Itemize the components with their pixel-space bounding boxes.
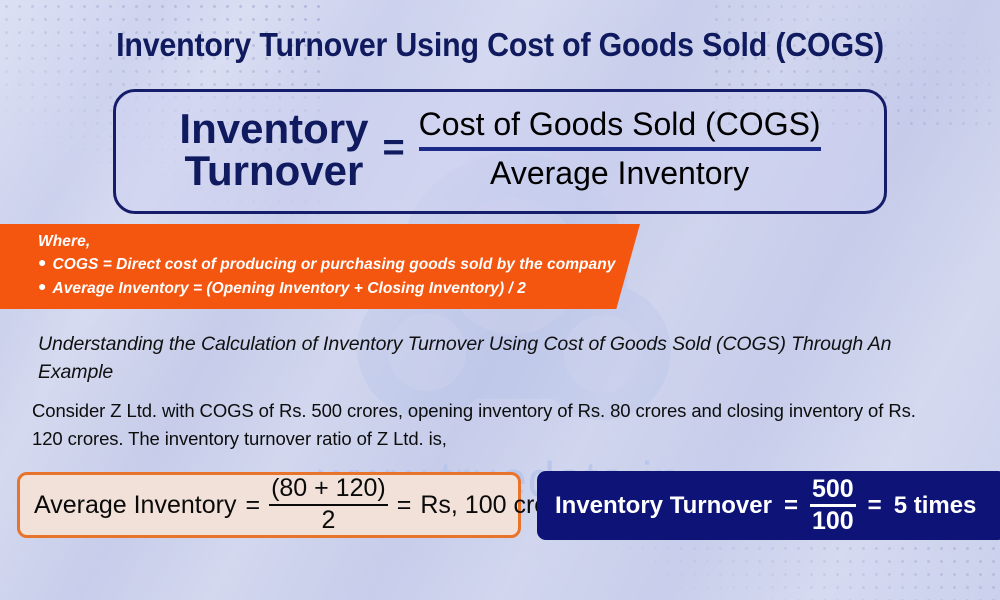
where-item-text: COGS = Direct cost of producing or purch… bbox=[53, 253, 616, 277]
formula-lhs-line1: Inventory bbox=[179, 108, 368, 149]
formula-equals-sign: = bbox=[382, 127, 404, 170]
average-inventory-equals: = bbox=[245, 491, 260, 520]
bullet-icon: ● bbox=[38, 255, 47, 269]
formula-numerator: Cost of Goods Sold (COGS) bbox=[419, 106, 821, 144]
page-title: Inventory Turnover Using Cost of Goods S… bbox=[40, 26, 960, 64]
inventory-turnover-numerator: 500 bbox=[810, 477, 856, 503]
inventory-turnover-equals: = bbox=[784, 492, 798, 520]
explanation-body: Consider Z Ltd. with COGS of Rs. 500 cro… bbox=[32, 397, 942, 453]
inventory-turnover-denominator: 100 bbox=[810, 509, 856, 535]
formula-lhs-line2: Turnover bbox=[179, 150, 368, 191]
where-item: ● COGS = Direct cost of producing or pur… bbox=[38, 253, 640, 277]
explanation-heading: Understanding the Calculation of Invento… bbox=[38, 330, 938, 387]
inventory-turnover-equals-2: = bbox=[868, 492, 882, 520]
average-inventory-numerator: (80 + 120) bbox=[269, 476, 388, 502]
main-formula-box: Inventory Turnover = Cost of Goods Sold … bbox=[113, 89, 887, 214]
infographic-canvas: www.truedata.in Inventory Turnover Using… bbox=[0, 0, 1000, 600]
inventory-turnover-fraction: 500 100 bbox=[810, 477, 856, 535]
where-item-text: Average Inventory = (Opening Inventory +… bbox=[53, 277, 526, 301]
average-inventory-denominator: 2 bbox=[319, 508, 337, 534]
average-inventory-result-box: Average Inventory = (80 + 120) 2 = Rs, 1… bbox=[17, 472, 521, 538]
average-inventory-label: Average Inventory bbox=[34, 491, 236, 520]
inventory-turnover-value: 5 times bbox=[894, 492, 977, 520]
bullet-icon: ● bbox=[38, 279, 47, 293]
where-heading: Where, bbox=[38, 232, 640, 253]
formula-fraction: Cost of Goods Sold (COGS) Average Invent… bbox=[419, 106, 821, 193]
average-inventory-equals-2: = bbox=[397, 491, 412, 520]
where-banner: Where, ● COGS = Direct cost of producing… bbox=[0, 224, 640, 309]
formula-left-hand-side: Inventory Turnover bbox=[179, 108, 368, 190]
where-item: ● Average Inventory = (Opening Inventory… bbox=[38, 277, 640, 301]
inventory-turnover-result-box: Inventory Turnover = 500 100 = 5 times bbox=[537, 471, 1000, 540]
inventory-turnover-label: Inventory Turnover bbox=[555, 492, 772, 520]
main-formula: Inventory Turnover = Cost of Goods Sold … bbox=[179, 106, 820, 193]
average-inventory-fraction: (80 + 120) 2 bbox=[269, 476, 388, 534]
formula-denominator: Average Inventory bbox=[490, 155, 749, 193]
formula-fraction-bar bbox=[419, 147, 821, 151]
